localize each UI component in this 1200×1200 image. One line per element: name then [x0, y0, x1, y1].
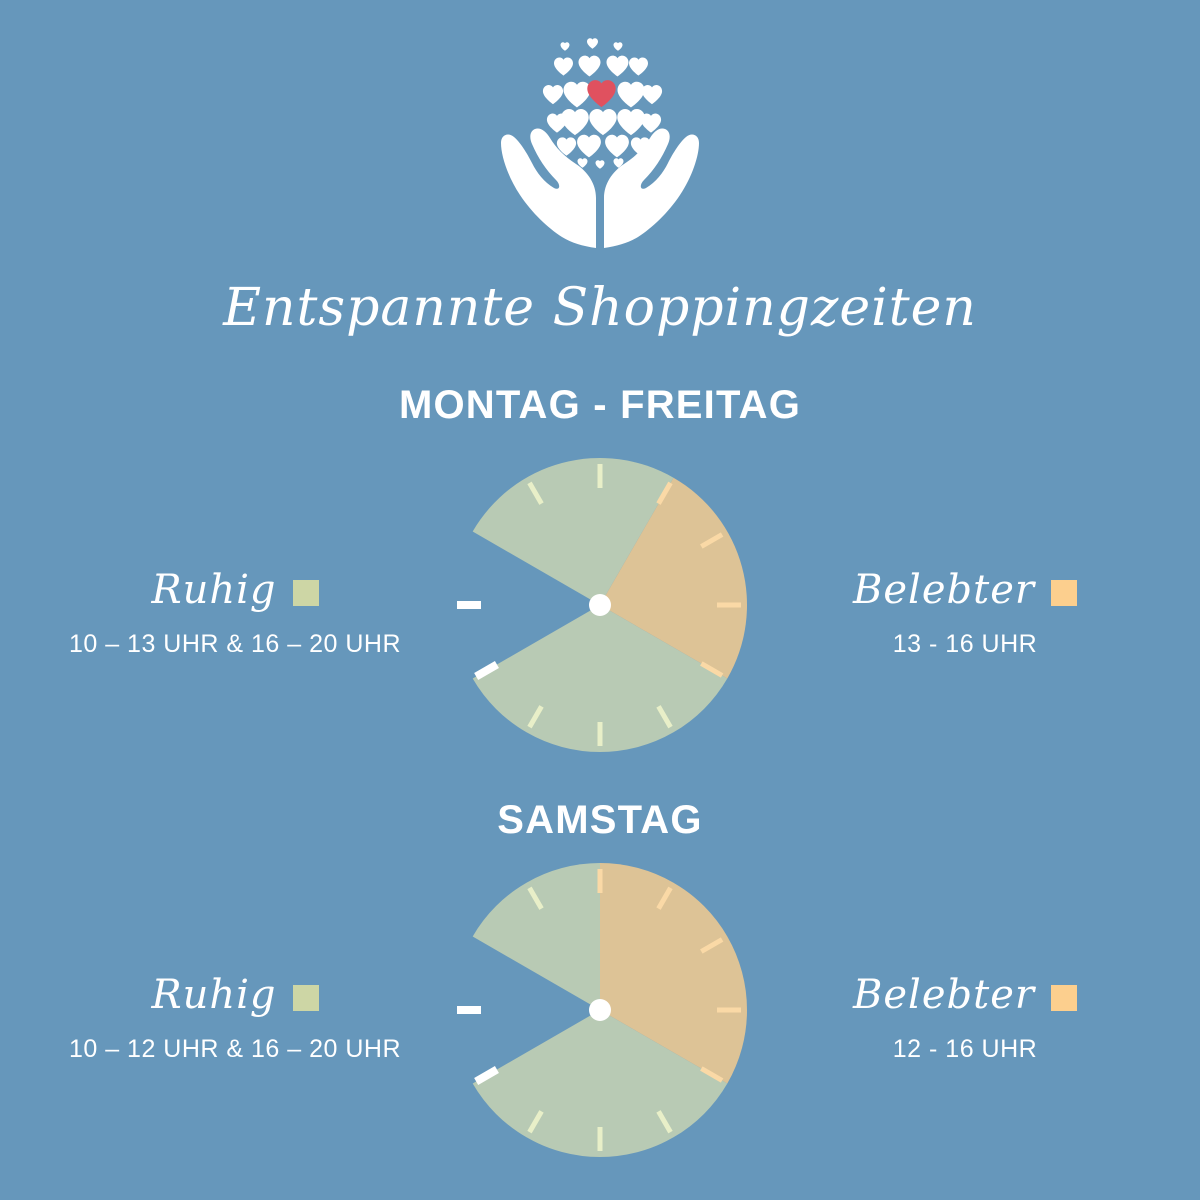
legend-busy-head-saturday: Belebter	[755, 967, 1175, 1023]
legend-busy-swatch	[1051, 985, 1077, 1011]
legend-quiet-label: Ruhig	[151, 562, 276, 618]
legend-busy-hours: 13 - 16 UHR	[755, 630, 1175, 659]
legend-busy-weekday: Belebter 13 - 16 UHR	[755, 562, 1175, 659]
opening-hours-clock-saturday	[450, 860, 750, 1160]
legend-busy-swatch	[1051, 580, 1077, 606]
accent-heart-icon	[587, 80, 615, 107]
section-weekday: Ruhig 10 – 13 UHR & 16 – 20 UHR Belebter…	[0, 455, 1200, 775]
legend-quiet-hours: 10 – 13 UHR & 16 – 20 UHR	[25, 630, 445, 659]
legend-quiet-swatch	[293, 580, 319, 606]
legend-quiet-hours: 10 – 12 UHR & 16 – 20 UHR	[25, 1035, 445, 1064]
legend-busy-head-weekday: Belebter	[755, 562, 1175, 618]
page-title: Entspannte Shoppingzeiten	[0, 272, 1200, 344]
legend-busy-hours: 12 - 16 UHR	[755, 1035, 1175, 1064]
section-saturday: Ruhig 10 – 12 UHR & 16 – 20 UHR Belebter…	[0, 860, 1200, 1180]
legend-quiet-swatch	[293, 985, 319, 1011]
legend-quiet-label: Ruhig	[151, 967, 276, 1023]
legend-busy-saturday: Belebter 12 - 16 UHR	[755, 967, 1175, 1064]
legend-quiet-head-weekday: Ruhig	[25, 562, 445, 618]
clock-chart-weekday	[450, 455, 750, 755]
hands-holding-hearts-logo	[500, 32, 700, 250]
legend-quiet-weekday: Ruhig 10 – 13 UHR & 16 – 20 UHR	[25, 562, 445, 659]
section-title-weekday: MONTAG - FREITAG	[0, 383, 1200, 428]
clock-center-hub	[589, 594, 611, 616]
logo-container	[0, 32, 1200, 250]
opening-hours-clock-weekday	[450, 455, 750, 755]
poster: Entspannte Shoppingzeiten MONTAG - FREIT…	[0, 0, 1200, 1200]
clock-wedge	[473, 863, 600, 1010]
hands-icon	[501, 128, 699, 248]
clock-chart-saturday	[450, 860, 750, 1160]
legend-quiet-head-saturday: Ruhig	[25, 967, 445, 1023]
clock-center-hub	[589, 999, 611, 1021]
section-title-saturday: SAMSTAG	[0, 798, 1200, 843]
legend-quiet-saturday: Ruhig 10 – 12 UHR & 16 – 20 UHR	[25, 967, 445, 1064]
legend-busy-label: Belebter	[853, 562, 1035, 618]
legend-busy-label: Belebter	[853, 967, 1035, 1023]
